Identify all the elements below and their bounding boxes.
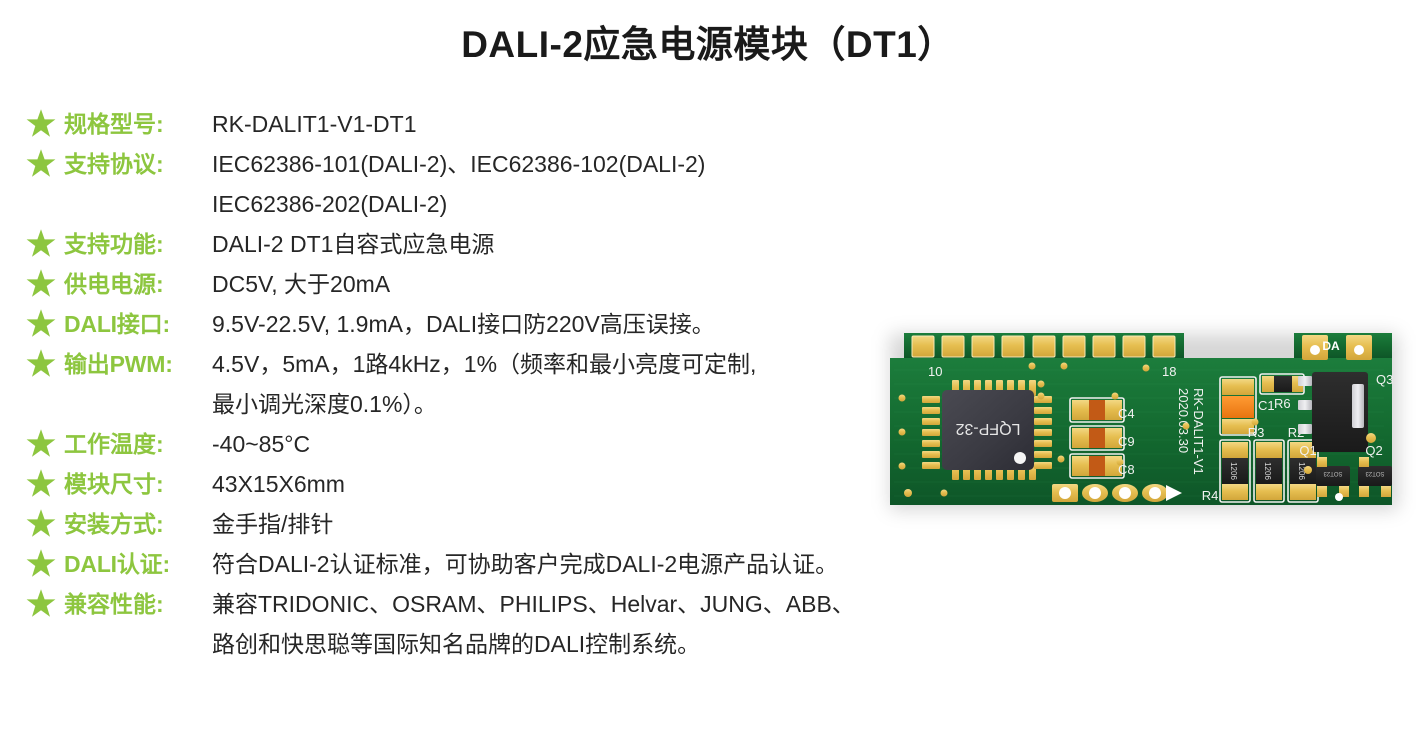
spec-label: 工作温度: (64, 424, 212, 464)
silk-r3: R3 (1248, 425, 1265, 440)
silk-r6: R6 (1274, 396, 1291, 411)
spec-row: 规格型号: RK-DALIT1-V1-DT1 (26, 104, 1006, 144)
spec-row-continuation: 路创和快思聪等国际知名品牌的DALI控制系统。 (26, 624, 1006, 664)
silk-q1: Q1 (1299, 443, 1316, 458)
spec-list: 规格型号: RK-DALIT1-V1-DT1 支持协议: IEC62386-10… (26, 104, 1006, 664)
page-title: DALI-2应急电源模块（DT1） (0, 14, 1416, 68)
silk-r4: R4 (1202, 488, 1219, 503)
spec-row: 模块尺寸: 43X15X6mm (26, 464, 1006, 504)
spec-label: 支持功能: (64, 224, 212, 264)
star-icon (26, 588, 56, 618)
silk-c1: C1 (1258, 398, 1275, 413)
spec-label: 兼容性能: (64, 584, 212, 624)
pcb-image: DA 10 18 RK-DALIT1-V1 2020.03.30 (884, 300, 1404, 530)
spec-row: 支持协议: IEC62386-101(DALI-2)、IEC62386-102(… (26, 144, 1006, 184)
spec-row: 输出PWM: 4.5V，5mA，1路4kHz，1%（频率和最小亮度可定制, (26, 344, 1006, 384)
silk-c4: C4 (1118, 406, 1135, 421)
spec-label: DALI认证: (64, 544, 212, 584)
spec-row: 安装方式: 金手指/排针 (26, 504, 1006, 544)
spec-label: 支持协议: (64, 144, 212, 184)
spec-value: DALI-2 DT1自容式应急电源 (212, 224, 1006, 264)
star-icon (26, 548, 56, 578)
silk-c9: C9 (1118, 434, 1135, 449)
spec-value: 兼容TRIDONIC、OSRAM、PHILIPS、Helvar、JUNG、ABB… (212, 584, 1006, 624)
spec-label: 供电电源: (64, 264, 212, 304)
silk-board-name: RK-DALIT1-V1 (1191, 388, 1206, 475)
spec-row: 工作温度: -40~85°C (26, 424, 1006, 464)
star-icon (26, 108, 56, 138)
spec-row-continuation: IEC62386-202(DALI-2) (26, 184, 1006, 224)
star-icon (26, 428, 56, 458)
spec-value: DC5V, 大于20mA (212, 264, 1006, 304)
silk-res-code: 1206 (1263, 462, 1272, 480)
star-icon (26, 148, 56, 178)
spec-label: DALI接口: (64, 304, 212, 344)
spec-label: 输出PWM: (64, 344, 212, 384)
spec-row-continuation: 最小调光深度0.1%）。 (26, 384, 1006, 424)
star-icon (26, 508, 56, 538)
capacitor-group-left: C4 C9 C8 (1070, 398, 1135, 478)
star-icon (26, 308, 56, 338)
spec-label: 安装方式: (64, 504, 212, 544)
silk-q3: Q3 (1376, 372, 1393, 387)
spec-row: 支持功能: DALI-2 DT1自容式应急电源 (26, 224, 1006, 264)
gold-fingers (912, 336, 1175, 357)
spec-row: 兼容性能: 兼容TRIDONIC、OSRAM、PHILIPS、Helvar、JU… (26, 584, 1006, 624)
silk-q2: Q2 (1365, 443, 1382, 458)
silk-board-date: 2020.03.30 (1176, 388, 1191, 453)
silk-pin-10: 10 (928, 364, 942, 379)
silk-da: DA (1322, 339, 1340, 353)
spec-value: 符合DALI-2认证标准，可协助客户完成DALI-2电源产品认证。 (212, 544, 1006, 584)
star-icon (26, 348, 56, 378)
silk-pin-18: 18 (1162, 364, 1176, 379)
spec-row: DALI认证: 符合DALI-2认证标准，可协助客户完成DALI-2电源产品认证… (26, 544, 1006, 584)
star-icon (26, 268, 56, 298)
spec-label: 模块尺寸: (64, 464, 212, 504)
spec-label: 规格型号: (64, 104, 212, 144)
silk-res-code: 1206 (1229, 462, 1238, 480)
spec-value: IEC62386-101(DALI-2)、IEC62386-102(DALI-2… (212, 144, 1006, 184)
pcb-illustration: DA 10 18 RK-DALIT1-V1 2020.03.30 (884, 300, 1404, 530)
test-pads (1052, 484, 1182, 502)
star-icon (26, 228, 56, 258)
silk-sot-code: SOT23 (1323, 470, 1343, 476)
spec-row: DALI接口: 9.5V-22.5V, 1.9mA，DALI接口防220V高压误… (26, 304, 1006, 344)
star-icon (26, 468, 56, 498)
silk-chip-label: LQFP-32 (955, 420, 1020, 437)
spec-value: IEC62386-202(DALI-2) (212, 184, 1006, 224)
spec-row: 供电电源: DC5V, 大于20mA (26, 264, 1006, 304)
silk-sot-code: SOT23 (1365, 470, 1385, 476)
spec-value: 路创和快思聪等国际知名品牌的DALI控制系统。 (212, 624, 1006, 664)
spec-value: RK-DALIT1-V1-DT1 (212, 104, 1006, 144)
